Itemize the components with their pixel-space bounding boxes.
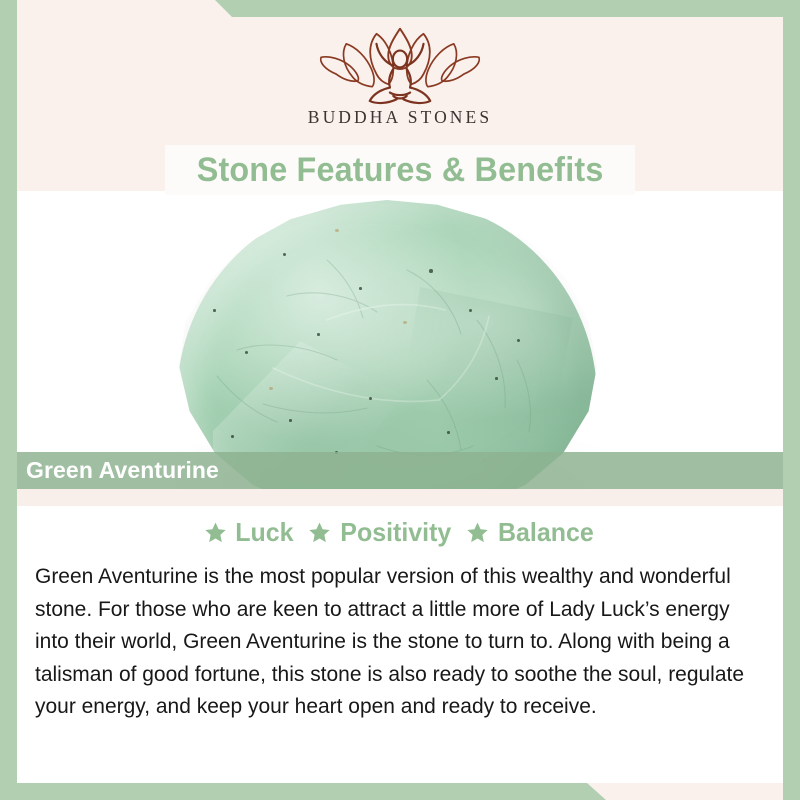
- stone-speck: [245, 351, 248, 354]
- star-icon: [466, 521, 489, 544]
- product-name: Green Aventurine: [26, 457, 219, 484]
- stone-speck: [335, 229, 339, 232]
- brand-header: BUDDHA STONES: [17, 17, 783, 145]
- page-title-banner: Stone Features & Benefits: [165, 145, 635, 195]
- description-text: Green Aventurine is the most popular ver…: [35, 560, 759, 723]
- lotus-meditation-figure-icon: [316, 22, 484, 106]
- frame-top-band: [0, 0, 800, 17]
- stone-speck: [369, 397, 372, 400]
- stone-speck: [517, 339, 520, 342]
- description-panel: Luck Positivity Balance Green Aventurine…: [17, 489, 783, 783]
- keyword-item-positivity: Positivity: [308, 517, 454, 548]
- brand-wordmark: BUDDHA STONES: [308, 107, 492, 128]
- product-name-bar: Green Aventurine: [17, 452, 783, 489]
- stone-speck: [317, 333, 320, 336]
- stone-speck: [403, 321, 407, 324]
- stone-speck: [289, 419, 292, 422]
- keyword-label: Balance: [498, 517, 594, 548]
- stone-speck: [283, 253, 286, 256]
- page-title: Stone Features & Benefits: [197, 151, 604, 190]
- frame-right-band: [783, 0, 800, 800]
- stone-speck: [269, 387, 273, 390]
- stone-speck: [495, 377, 498, 380]
- keyword-item-luck: Luck: [204, 517, 295, 548]
- frame-bottom-band: [0, 783, 800, 800]
- keyword-list: Luck Positivity Balance: [17, 517, 783, 548]
- stone-speck: [213, 309, 216, 312]
- frame-left-band: [0, 0, 17, 800]
- keyword-label: Positivity: [340, 517, 451, 548]
- stone-speck: [429, 269, 433, 273]
- stone-speck: [447, 431, 450, 434]
- poster-canvas: BUDDHA STONES: [0, 0, 800, 800]
- panel-top-tint: [17, 489, 783, 506]
- keyword-label: Luck: [235, 517, 293, 548]
- keyword-item-balance: Balance: [466, 517, 596, 548]
- stone-speck: [359, 287, 362, 290]
- star-icon: [308, 521, 331, 544]
- stone-speck: [469, 309, 472, 312]
- stone-speck: [231, 435, 234, 438]
- star-icon: [204, 521, 227, 544]
